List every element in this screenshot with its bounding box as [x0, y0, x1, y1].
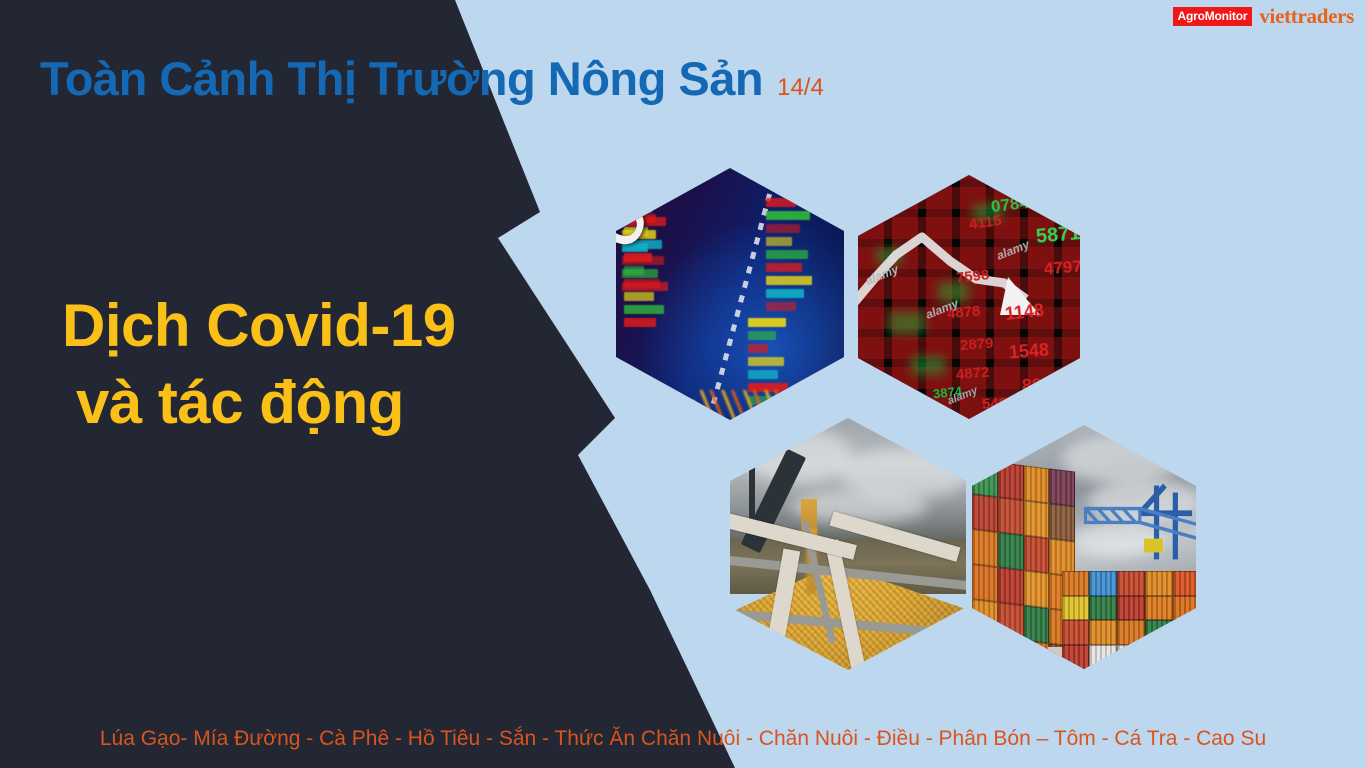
- grain-harvest-hexagon: [730, 418, 966, 670]
- brand-logo: AgroMonitor viettraders: [1173, 6, 1354, 27]
- footer-commodities-label: Lúa Gạo- Mía Đường - Cà Phê - Hồ Tiêu - …: [100, 727, 1266, 750]
- main-title-line-2: và tác động: [62, 365, 456, 442]
- covid-screen-hexagon: COVID-1: [616, 168, 844, 420]
- main-title-line-1: Dịch Covid-19: [62, 288, 456, 365]
- page-title: Toàn Cảnh Thị Trường Nông Sản: [40, 55, 763, 102]
- container-port-hexagon: [972, 425, 1196, 669]
- viettraders-wordmark: viettraders: [1259, 6, 1354, 27]
- header-date: 14/4: [777, 76, 824, 100]
- slide-canvas: AgroMonitor viettraders Toàn Cảnh Thị Tr…: [0, 0, 1366, 768]
- agromonitor-badge: AgroMonitor: [1173, 7, 1253, 26]
- stock-ticker-hexagon: 0784 5871 4115 4797 7598 4878 2879 1148 …: [858, 175, 1080, 419]
- header: Toàn Cảnh Thị Trường Nông Sản 14/4: [40, 55, 824, 102]
- footer-commodities: Lúa Gạo- Mía Đường - Cà Phê - Hồ Tiêu - …: [0, 728, 1366, 749]
- covid-caption: COVID-1: [616, 168, 737, 257]
- main-title: Dịch Covid-19 và tác động: [62, 288, 456, 442]
